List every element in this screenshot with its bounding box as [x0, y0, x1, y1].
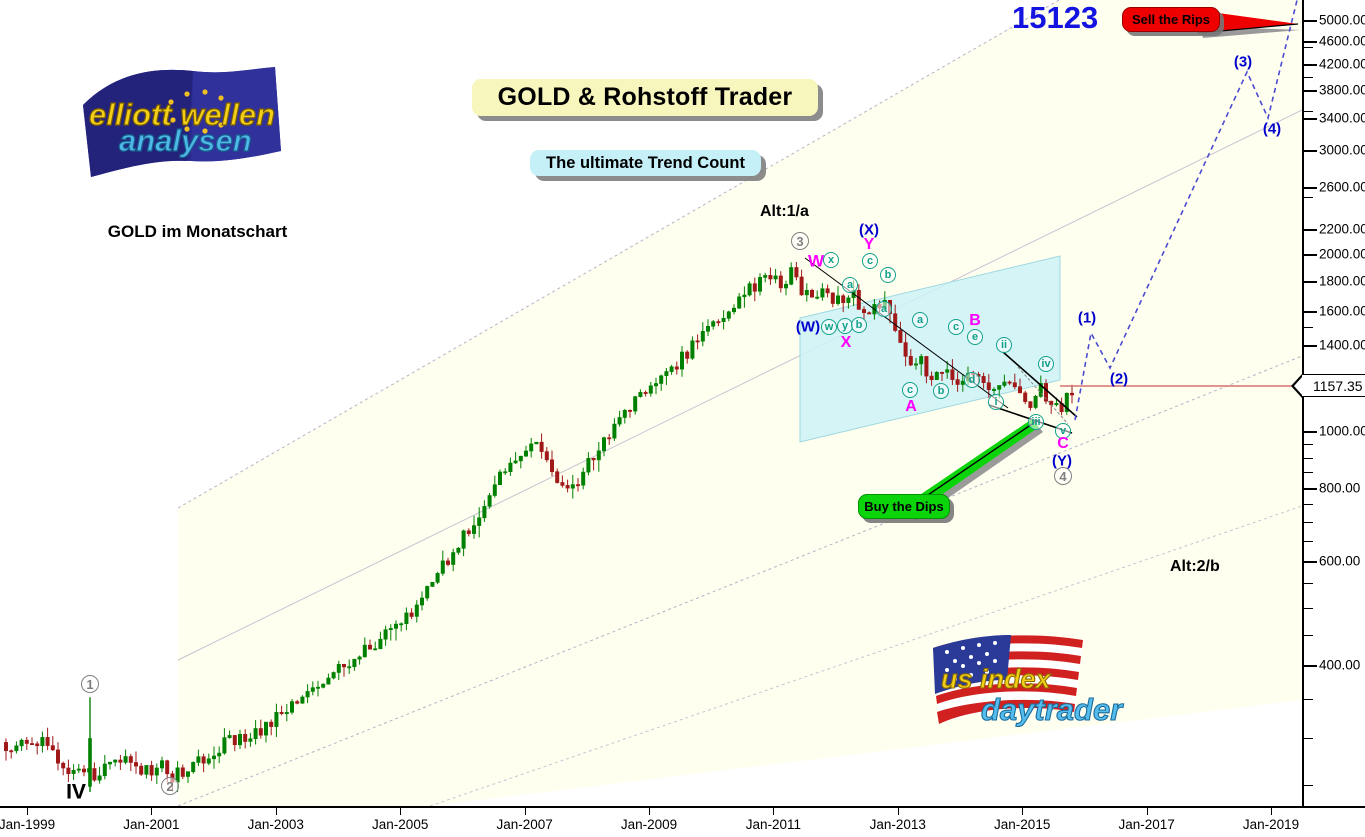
- buy-the-dips-callout[interactable]: Buy the Dips: [858, 494, 950, 519]
- y-axis-minor-tick: [1304, 20, 1313, 21]
- y-axis-minor-tick: [1304, 561, 1313, 562]
- x-axis-tick: [151, 808, 152, 815]
- y-axis-minor-tick: [1304, 254, 1313, 255]
- wave-label-a: a: [912, 312, 928, 328]
- y-axis: 5000.004600.004200.003800.003400.003000.…: [1302, 0, 1365, 806]
- chart-title: GOLD & Rohstoff Trader: [472, 79, 818, 116]
- y-axis-minor-tick: [1304, 458, 1313, 459]
- y-axis-label: 400.00: [1319, 658, 1360, 672]
- us-index-daytrader-logo: us index daytrader: [915, 630, 1195, 740]
- y-axis-minor-tick: [1304, 47, 1313, 48]
- wave-label-iii: iii: [1028, 414, 1044, 430]
- y-axis-tick: [1304, 187, 1317, 189]
- y-axis-label: 4200.00: [1319, 57, 1365, 71]
- wave-label-b: b: [880, 267, 896, 283]
- y-axis-label: 2600.00: [1319, 180, 1365, 194]
- y-axis-minor-tick: [1304, 472, 1313, 473]
- y-axis-tick: [1304, 345, 1317, 347]
- y-axis-label: 800.00: [1319, 481, 1360, 495]
- y-axis-minor-tick: [1304, 665, 1313, 666]
- y-axis-minor-tick: [1304, 197, 1313, 198]
- y-axis-tick: [1304, 281, 1317, 283]
- wave-label-w: (W): [796, 320, 820, 335]
- x-axis-label: Jan-2013: [870, 817, 926, 832]
- y-axis-tick: [1304, 90, 1317, 92]
- y-axis-label: 600.00: [1319, 554, 1360, 568]
- wave-label-b: b: [933, 383, 949, 399]
- wave-label-w: W: [808, 253, 824, 270]
- y-axis-minor-tick: [1304, 608, 1313, 609]
- wave-label-ii: ii: [996, 337, 1012, 353]
- y-axis-label: 1800.00: [1319, 274, 1365, 288]
- wave-label-a: A: [905, 399, 917, 415]
- svg-text:us index: us index: [941, 664, 1052, 694]
- y-axis-minor-tick: [1304, 327, 1313, 328]
- wave-label-a: a: [842, 277, 858, 293]
- x-axis-tick: [773, 808, 774, 815]
- wave-label-3: 3: [791, 232, 809, 250]
- wave-label-2: 2: [161, 777, 179, 795]
- y-axis-label: 2000.00: [1319, 247, 1365, 261]
- wave-label-4: 4: [1054, 467, 1072, 485]
- x-axis-label: Jan-2017: [1118, 817, 1174, 832]
- wave-label-y: (Y): [1052, 454, 1072, 469]
- x-axis-tick: [1022, 808, 1023, 815]
- y-axis-tick: [1304, 64, 1317, 66]
- y-axis-tick: [1304, 41, 1317, 43]
- y-axis-minor-tick: [1304, 431, 1313, 432]
- wave-label-b: B: [969, 313, 981, 329]
- wave-label-2: (2): [1110, 372, 1128, 387]
- x-axis-label: Jan-2019: [1243, 817, 1299, 832]
- x-axis: Jan-1999Jan-2001Jan-2003Jan-2005Jan-2007…: [0, 806, 1365, 837]
- x-axis-tick: [1147, 808, 1148, 815]
- y-axis-minor-tick: [1304, 111, 1313, 112]
- y-axis-label: 1600.00: [1319, 304, 1365, 318]
- y-axis-label: 3800.00: [1319, 83, 1365, 97]
- y-axis-minor-tick: [1304, 77, 1313, 78]
- y-axis-minor-tick: [1304, 738, 1313, 739]
- svg-text:daytrader: daytrader: [981, 692, 1124, 727]
- wave-label-w: w: [821, 319, 837, 335]
- wave-label-c: c: [862, 253, 878, 269]
- y-axis-label: 4600.00: [1319, 34, 1365, 48]
- wave-label-c: c: [902, 382, 918, 398]
- y-axis-minor-tick: [1304, 541, 1313, 542]
- y-axis-minor-tick: [1304, 635, 1313, 636]
- x-axis-tick: [898, 808, 899, 815]
- wave-label-1: (1): [1078, 311, 1096, 326]
- x-axis-label: Jan-1999: [0, 817, 55, 832]
- x-axis-tick: [400, 808, 401, 815]
- y-axis-minor-tick: [1304, 150, 1313, 151]
- wave-label-d: d: [964, 372, 980, 388]
- x-axis-label: Jan-2011: [746, 817, 801, 832]
- x-axis-label: Jan-2001: [123, 817, 179, 832]
- wave-label-i: i: [988, 394, 1004, 410]
- wave-label-x: X: [841, 335, 852, 351]
- x-axis-label: Jan-2003: [248, 817, 304, 832]
- svg-text:analysen: analysen: [119, 123, 252, 158]
- y-axis-minor-tick: [1304, 699, 1313, 700]
- x-axis-label: Jan-2009: [621, 817, 677, 832]
- wave-label-e: e: [967, 329, 983, 345]
- wave-label-c: c: [948, 319, 964, 335]
- y-axis-minor-tick: [1304, 583, 1313, 584]
- y-axis-label: 1000.00: [1319, 424, 1365, 438]
- chart-screenshot: IV1234W(W)wxyX(X)YabcbacAabcdeBiiiiiiivv…: [0, 0, 1365, 837]
- y-axis-label: 2200.00: [1319, 223, 1365, 237]
- x-axis-tick: [649, 808, 650, 815]
- y-axis-minor-tick: [1304, 488, 1313, 489]
- x-axis-tick: [27, 808, 28, 815]
- elliott-wellen-analysen-logo: elliott wellen analysen: [75, 65, 320, 185]
- x-axis-tick: [525, 808, 526, 815]
- current-price-tag: 1157.35: [1302, 374, 1365, 397]
- y-axis-minor-tick: [1304, 504, 1313, 505]
- wave-label-a: a: [876, 301, 892, 317]
- wave-label-1: 1: [81, 675, 99, 693]
- sell-the-rips-callout[interactable]: Sell the Rips: [1122, 7, 1220, 32]
- x-axis-label: Jan-2005: [372, 817, 428, 832]
- y-axis-label: 5000.00: [1319, 13, 1365, 27]
- wave-label-c: C: [1057, 436, 1069, 452]
- wave-label-x: x: [823, 252, 839, 268]
- wave-label-3: (3): [1234, 55, 1252, 70]
- alt-count-lower-label: Alt:2/b: [1170, 558, 1220, 576]
- wave-label-iv: IV: [66, 782, 86, 803]
- x-axis-label: Jan-2007: [496, 817, 552, 832]
- wave-label-4: (4): [1263, 122, 1281, 137]
- y-axis-label: 3400.00: [1319, 111, 1365, 125]
- y-axis-tick: [1304, 229, 1317, 231]
- y-axis-minor-tick: [1304, 785, 1313, 786]
- logo-caption-gold-monthly: GOLD im Monatschart: [75, 222, 320, 242]
- x-axis-tick: [1271, 808, 1272, 815]
- y-axis-tick: [1304, 118, 1317, 120]
- wave-label-b: b: [851, 317, 867, 333]
- wave-label-y: Y: [864, 237, 875, 253]
- y-axis-label: 3000.00: [1319, 143, 1365, 157]
- y-axis-tick: [1304, 311, 1317, 313]
- wave-label-iv: iv: [1038, 356, 1054, 372]
- y-axis-minor-tick: [1304, 522, 1313, 523]
- y-axis-minor-tick: [1304, 444, 1313, 445]
- x-axis-label: Jan-2015: [994, 817, 1050, 832]
- x-axis-tick: [276, 808, 277, 815]
- alt-count-upper-label: Alt:1/a: [760, 203, 809, 221]
- chart-subtitle: The ultimate Trend Count: [530, 150, 761, 176]
- y-axis-label: 1400.00: [1319, 338, 1365, 352]
- index-value-readout: 15123: [1012, 0, 1098, 36]
